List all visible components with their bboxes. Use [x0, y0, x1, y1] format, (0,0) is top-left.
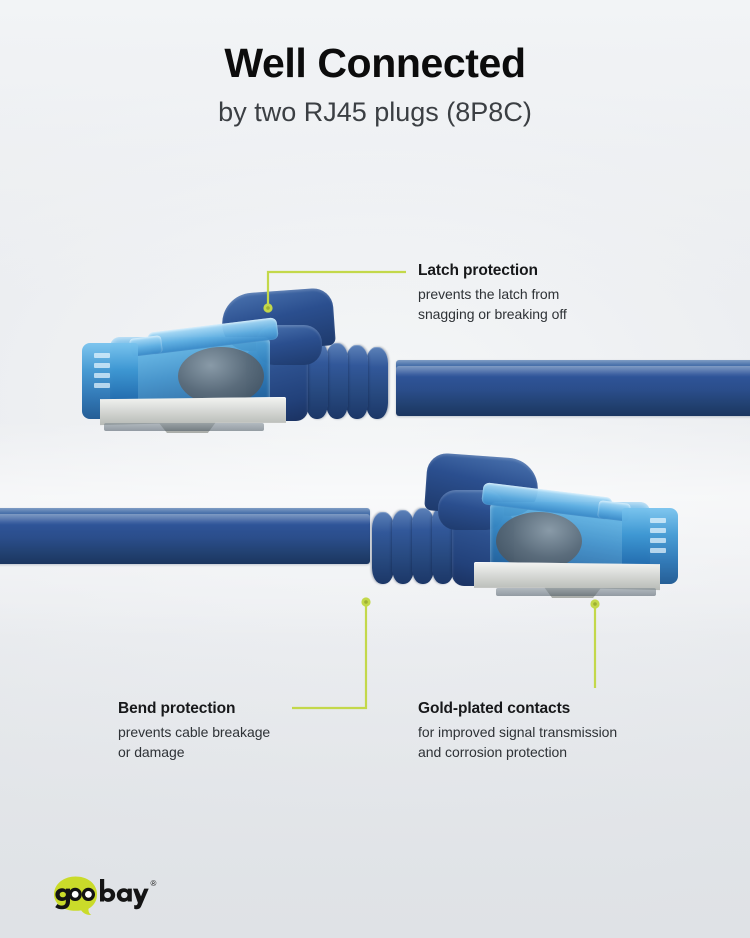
- callout-heading: Gold-plated contacts: [418, 700, 617, 719]
- plug-internal-window: [496, 512, 582, 570]
- gold-contact-slot: [650, 548, 666, 553]
- gold-contact-slot: [94, 353, 110, 358]
- infographic-canvas: Well Connected by two RJ45 plugs (8P8C): [0, 0, 750, 938]
- callout-line: or damage: [118, 742, 270, 762]
- product-illustration: [0, 0, 750, 938]
- callout-latch-protection: Latch protection prevents the latch from…: [418, 262, 567, 324]
- callout-line: for improved signal transmission: [418, 722, 617, 742]
- cable-lower: [0, 508, 370, 564]
- connector-lower: [330, 440, 700, 610]
- gold-contact-slot: [650, 518, 666, 523]
- plug-internal-window: [178, 347, 264, 405]
- boot-rib: [412, 508, 434, 584]
- shield-shadow-lower: [496, 588, 656, 596]
- gold-contact-slot: [94, 373, 110, 378]
- callout-bend-protection: Bend protection prevents cable breakage …: [118, 700, 270, 762]
- boot-rib: [372, 512, 394, 584]
- callout-heading: Latch protection: [418, 262, 567, 281]
- gold-contact-slot: [650, 528, 666, 533]
- callout-line: and corrosion protection: [418, 742, 617, 762]
- goobay-logo-mark: ®: [52, 874, 192, 916]
- logo-letters-bay: [100, 879, 149, 909]
- gold-contact-slot: [94, 383, 110, 388]
- boot-rib: [326, 343, 348, 419]
- boot-rib: [366, 347, 388, 419]
- gold-contact-slot: [650, 538, 666, 543]
- logo-registered-mark: ®: [151, 879, 157, 888]
- cable-upper: [396, 360, 750, 416]
- callout-gold-plated-contacts: Gold-plated contacts for improved signal…: [418, 700, 617, 762]
- shield-shadow-upper: [104, 423, 264, 431]
- goobay-logo: ®: [52, 874, 192, 916]
- callout-line: prevents the latch from: [418, 284, 567, 304]
- boot-rib: [346, 345, 368, 419]
- callout-heading: Bend protection: [118, 700, 270, 719]
- gold-contact-slot: [94, 363, 110, 368]
- callout-line: prevents cable breakage: [118, 722, 270, 742]
- callout-line: snagging or breaking off: [418, 304, 567, 324]
- connector-upper: [70, 285, 430, 465]
- boot-rib: [392, 510, 414, 584]
- logo-letter-g: [55, 888, 70, 909]
